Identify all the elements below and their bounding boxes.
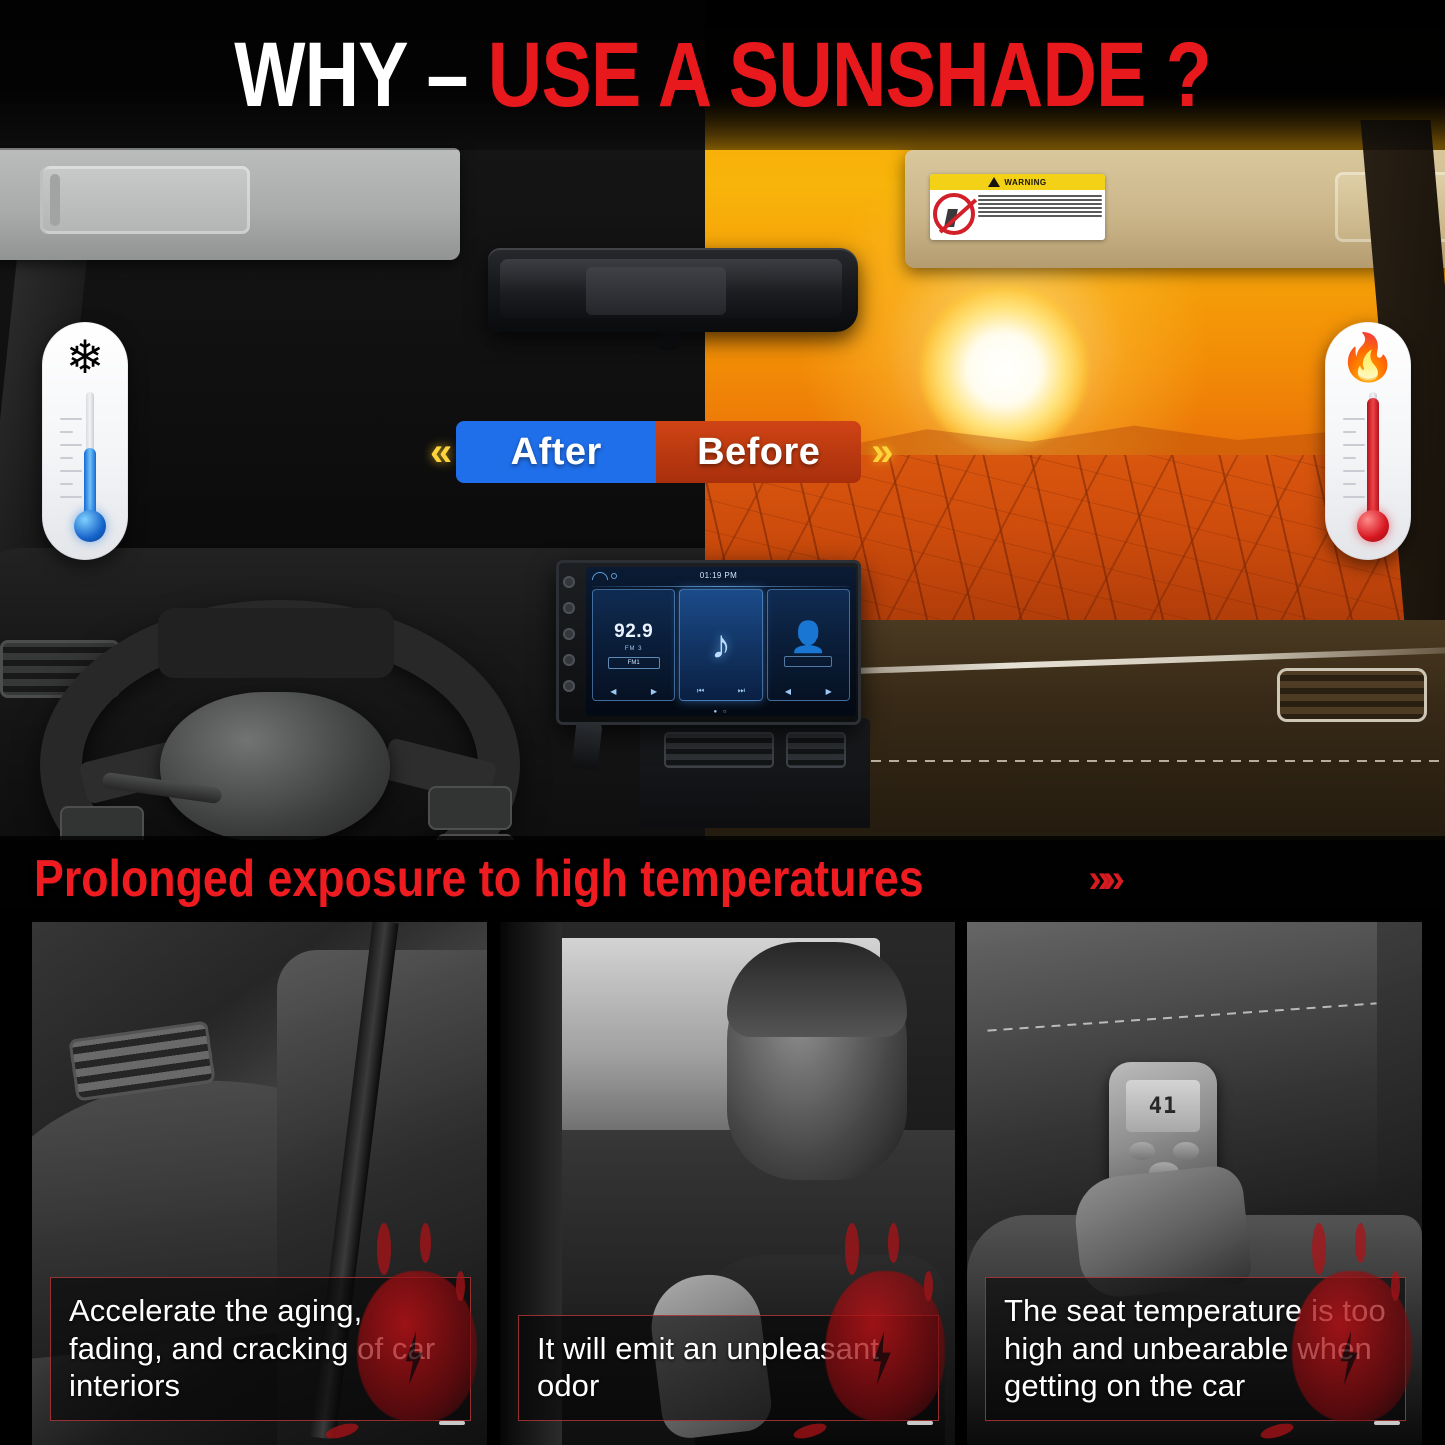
head-unit-page-dots[interactable]: ● ○ xyxy=(586,709,856,715)
caption-dash-mark xyxy=(907,1421,933,1425)
cold-thermometer-scale xyxy=(60,418,82,522)
steering-wheel xyxy=(40,600,520,840)
mirror-glass xyxy=(500,259,842,318)
middle-banner-chevrons-icon: »» xyxy=(1088,857,1117,902)
head-unit-mount xyxy=(572,722,603,770)
after-before-toggle[interactable]: « After Before » xyxy=(430,418,950,486)
signal-arc-icon xyxy=(592,572,608,580)
media-next-icon[interactable]: ⏭ xyxy=(738,686,745,696)
airbag-warning-label: WARNING xyxy=(930,174,1105,240)
caption-dash-mark xyxy=(1374,1421,1400,1425)
rear-view-mirror xyxy=(488,248,858,332)
head-unit-status-bar: 01:19 PM xyxy=(592,571,850,580)
warning-label-header: WARNING xyxy=(930,174,1105,190)
title-bar: WHY – USE A SUNSHADE ? xyxy=(0,0,1445,150)
panel-caption: Accelerate the aging, fading, and cracki… xyxy=(50,1277,471,1421)
before-air-vent xyxy=(1277,668,1427,722)
title-red-part: USE A SUNSHADE ? xyxy=(488,24,1211,126)
phone-tile[interactable]: 👤 ◀ ▶ xyxy=(767,589,850,701)
right-chevron-icon: » xyxy=(871,432,887,472)
hot-thermometer-fill xyxy=(1367,398,1379,526)
after-badge[interactable]: After xyxy=(456,421,656,483)
head-unit-screen[interactable]: 01:19 PM 92.9 FM 3 FM1 ◀ ▶ xyxy=(586,567,856,716)
thermometer-button-left xyxy=(1129,1142,1155,1160)
head-unit-button-2[interactable] xyxy=(563,602,575,614)
cold-thermometer: ❄ xyxy=(42,322,128,560)
radio-nav: ◀ ▶ xyxy=(593,687,674,696)
hot-thermometer-bulb xyxy=(1357,510,1389,542)
steering-control-left xyxy=(60,806,144,840)
head-unit-tiles: 92.9 FM 3 FM1 ◀ ▶ ♪ ⏮ ⏭ xyxy=(592,589,850,701)
benefit-panels: Accelerate the aging, fading, and cracki… xyxy=(0,920,1445,1445)
console-vent-right xyxy=(786,732,846,768)
warning-label-text-lines xyxy=(978,193,1102,235)
panel-odor: It will emit an unpleasant odor xyxy=(500,920,955,1445)
hot-thermometer-scale xyxy=(1343,418,1365,522)
music-note-icon: ♪ xyxy=(711,625,731,665)
no-child-seat-icon xyxy=(933,193,975,235)
cold-thermometer-bulb xyxy=(74,510,106,542)
phone-next-icon[interactable]: ▶ xyxy=(826,687,832,696)
steering-wheel-top-spoke xyxy=(158,608,394,678)
sunshade-product-poster: WARNING xyxy=(0,0,1445,1445)
head-unit-button-4[interactable] xyxy=(563,654,575,666)
thermometer-reading: 41 xyxy=(1149,1094,1178,1119)
head-unit-divider xyxy=(592,586,850,587)
infotainment-head-unit[interactable]: 01:19 PM 92.9 FM 3 FM1 ◀ ▶ xyxy=(556,560,861,725)
panel-seat-temperature: 41 The seat temperature is too high and … xyxy=(967,920,1422,1445)
panel-caption: The seat temperature is too high and unb… xyxy=(985,1277,1406,1421)
radio-tile[interactable]: 92.9 FM 3 FM1 ◀ ▶ xyxy=(592,589,675,701)
radio-next-icon[interactable]: ▶ xyxy=(651,687,657,696)
media-tile[interactable]: ♪ ⏮ ⏭ xyxy=(679,589,762,701)
middle-banner-text: Prolonged exposure to high temperatures xyxy=(34,849,924,909)
child-seat-glyph xyxy=(944,209,958,227)
head-unit-button-3[interactable] xyxy=(563,628,575,640)
center-console xyxy=(640,718,870,828)
middle-banner: Prolonged exposure to high temperatures … xyxy=(0,836,1445,922)
hero-split-scene: WARNING xyxy=(0,0,1445,840)
before-badge[interactable]: Before xyxy=(656,421,861,483)
panel-aging: Accelerate the aging, fading, and cracki… xyxy=(32,920,487,1445)
caption-dash-mark xyxy=(439,1421,465,1425)
steering-control-right-upper xyxy=(428,786,512,830)
page-title: WHY – USE A SUNSHADE ? xyxy=(234,29,1211,121)
thermometer-button-right xyxy=(1173,1142,1199,1160)
head-unit-side-buttons[interactable] xyxy=(563,576,575,692)
steering-wheel-airbag-hub xyxy=(160,692,390,840)
head-unit-clock: 01:19 PM xyxy=(700,571,737,580)
panel-caption: It will emit an unpleasant odor xyxy=(518,1315,939,1421)
warning-label-body xyxy=(930,190,1105,238)
status-dot-icon xyxy=(611,573,617,579)
media-prev-icon[interactable]: ⏮ xyxy=(697,686,704,696)
phone-nav: ◀ ▶ xyxy=(768,687,849,696)
panel2-man-hair xyxy=(727,942,907,1037)
thermometer-display: 41 xyxy=(1126,1080,1200,1132)
head-unit-button-5[interactable] xyxy=(563,680,575,692)
radio-band-sub: FM 3 xyxy=(625,646,643,652)
after-sun-visor xyxy=(0,148,460,260)
hot-thermometer: 🔥 xyxy=(1325,322,1411,560)
warning-triangle-icon xyxy=(988,177,1000,187)
radio-source-chip[interactable]: FM1 xyxy=(608,657,660,669)
flame-icon: 🔥 xyxy=(1325,334,1411,380)
radio-frequency: 92.9 xyxy=(614,621,653,643)
snowflake-icon: ❄ xyxy=(42,334,128,380)
phone-prev-icon[interactable]: ◀ xyxy=(785,687,791,696)
radio-prev-icon[interactable]: ◀ xyxy=(610,687,616,696)
media-nav: ⏮ ⏭ xyxy=(680,686,761,696)
person-icon: 👤 xyxy=(790,623,827,653)
head-unit-brand xyxy=(592,572,617,580)
head-unit-button-1[interactable] xyxy=(563,576,575,588)
console-vent-left xyxy=(664,732,774,768)
mirror-reflection-seats xyxy=(586,267,726,315)
warning-label-heading: WARNING xyxy=(1004,178,1046,187)
title-white-part: WHY – xyxy=(234,24,488,126)
left-chevron-icon: « xyxy=(430,432,446,472)
phone-contact-bar xyxy=(784,656,832,667)
